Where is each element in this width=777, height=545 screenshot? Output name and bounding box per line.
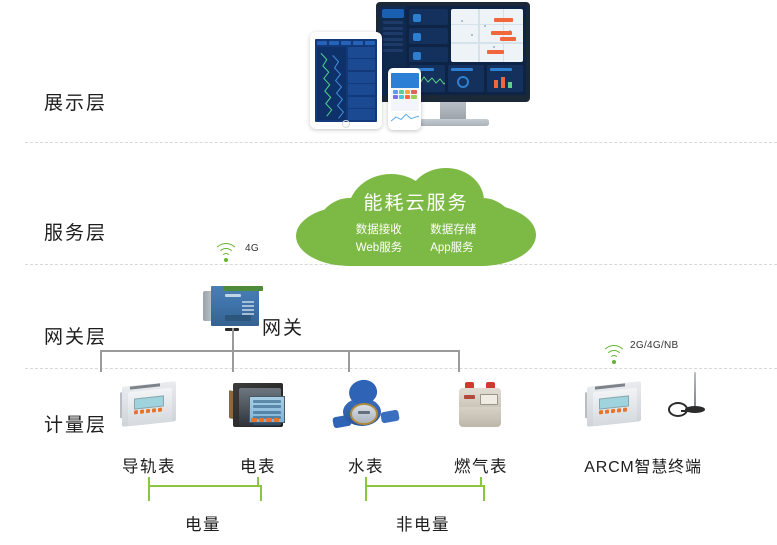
caption-panel-meter: 电表 <box>240 453 276 477</box>
dashboard-stat-cards <box>409 9 448 62</box>
tablet-device <box>310 32 382 129</box>
monitor-base <box>417 119 489 126</box>
caption-din-rail-meter: 导轨表 <box>122 453 176 477</box>
dashboard-bottom-cards <box>409 65 523 92</box>
phone-app-grid <box>391 88 419 112</box>
gas-meter-display <box>480 394 498 405</box>
cloud-services-right: 数据存储 App服务 <box>430 222 476 258</box>
stub-water-meter <box>365 477 367 485</box>
phone-chart-panel <box>391 111 419 125</box>
gas-meter-device <box>456 382 504 430</box>
gateway-front-panel <box>225 315 251 321</box>
din-rail-meter-device <box>118 382 180 430</box>
layer-label-display: 展示层 <box>44 88 107 115</box>
water-meter-dial <box>350 403 378 425</box>
cloud-service-data-receive: 数据接收 <box>356 222 402 240</box>
cloud-service-app: App服务 <box>430 240 476 258</box>
gateway-brand-mark <box>225 294 241 297</box>
architecture-diagram: 展示层 服务层 网关层 计量层 <box>0 0 777 545</box>
dashboard-main <box>406 6 526 95</box>
bar-chart <box>490 74 523 88</box>
gateway-network-label: 4G <box>245 243 259 254</box>
antenna-accessory <box>668 372 708 418</box>
layer-label-metering: 计量层 <box>44 410 107 437</box>
bracket-non-electric-group <box>365 485 485 501</box>
tablet-screen <box>315 39 377 122</box>
smartphone-device <box>388 68 421 130</box>
caption-water-meter: 水表 <box>348 453 384 477</box>
cloud-services-left: 数据接收 Web服务 <box>356 222 402 258</box>
dashboard-logo <box>382 9 404 18</box>
tablet-home-button <box>342 120 350 128</box>
cloud-service-data-storage: 数据存储 <box>430 222 476 240</box>
gateway-terminal-block <box>223 286 263 291</box>
terminal-network-label: 2G/4G/NB <box>630 340 679 351</box>
group-label-non-electric: 非电量 <box>396 511 450 535</box>
gateway-meter-connector <box>120 328 520 372</box>
arcm-terminal-device <box>583 382 645 430</box>
stub-panel-meter <box>257 477 259 485</box>
bracket-electric-group <box>148 485 262 501</box>
gateway-body <box>211 286 259 326</box>
caption-gas-meter: 燃气表 <box>454 453 508 477</box>
tablet-line-chart <box>317 47 346 120</box>
wifi-icon-gateway <box>213 243 239 263</box>
panel-meter-device <box>231 381 285 431</box>
phone-app-header <box>391 73 419 88</box>
tablet-chart-panel <box>317 47 346 120</box>
cloud-title: 能耗云服务 <box>296 188 536 215</box>
gauge-chart <box>451 74 484 88</box>
stub-din-rail-meter <box>148 477 150 485</box>
layer-label-service: 服务层 <box>44 218 107 245</box>
cloud-service: 能耗云服务 数据接收 Web服务 数据存储 App服务 <box>296 168 536 266</box>
group-label-electric: 电量 <box>185 511 221 535</box>
phone-screen <box>391 73 419 125</box>
dashboard-map-panel <box>451 9 523 62</box>
display-devices-group <box>300 2 550 134</box>
stub-gas-meter <box>480 477 482 485</box>
monitor-stand <box>440 102 466 120</box>
layer-label-gateway: 网关层 <box>44 322 107 349</box>
water-meter-device <box>333 380 399 432</box>
cloud-service-web: Web服务 <box>356 240 402 258</box>
wifi-icon-terminal <box>601 345 627 365</box>
divider-display-service <box>25 142 777 143</box>
caption-arcm-terminal: ARCM智慧终端 <box>584 453 702 477</box>
gateway-device <box>203 282 261 328</box>
